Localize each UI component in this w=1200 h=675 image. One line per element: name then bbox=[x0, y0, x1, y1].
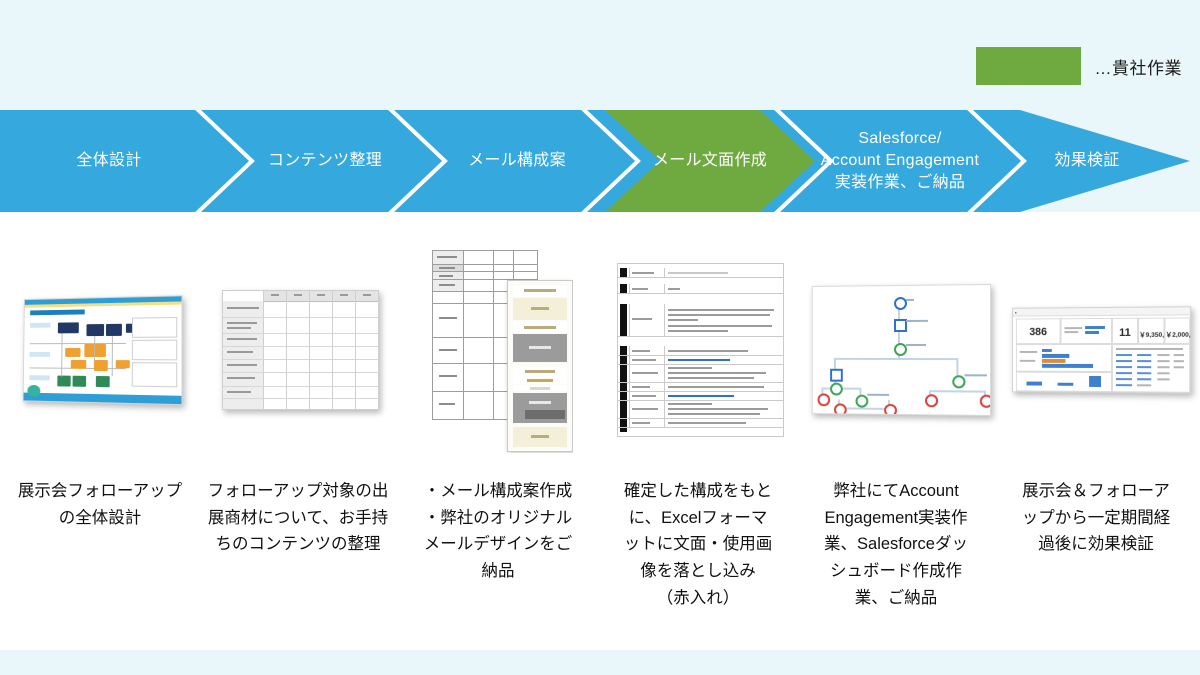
chevron-step-label-4[interactable]: メール文面作成 bbox=[625, 150, 795, 172]
excel-body-text-7 bbox=[668, 372, 766, 374]
journey-node-caption-4 bbox=[964, 374, 987, 376]
dashboard-table-cell-17 bbox=[1137, 378, 1151, 380]
dashboard-tile-bar-chart bbox=[1016, 344, 1112, 372]
excel-label-text-8 bbox=[632, 395, 656, 397]
thumbnail-email-structure-mockup[interactable] bbox=[428, 248, 573, 453]
table-col-label-2 bbox=[294, 294, 302, 296]
dashboard-chart-label-1 bbox=[1020, 351, 1037, 352]
journey-split-bar-2 bbox=[929, 390, 986, 392]
table-row-header-3 bbox=[223, 333, 263, 347]
table-row-header-8 bbox=[223, 398, 263, 410]
chevron-step-label-6[interactable]: 効果検証 bbox=[1012, 150, 1162, 172]
email-block-image-2-text bbox=[531, 435, 549, 438]
journey-node-end-3 bbox=[884, 404, 897, 416]
excel-value-text-1 bbox=[668, 272, 728, 274]
excel-label-text-6 bbox=[632, 372, 658, 374]
dashboard-table-cell-12 bbox=[1174, 366, 1184, 368]
dashboard-tile-2-label-2 bbox=[1064, 331, 1078, 333]
table-row-header-6 bbox=[223, 372, 263, 387]
excel-body-text-10 bbox=[668, 408, 768, 410]
caption-2: フォローアップ対象の出 展商材について、お手持 ちのコンテンツの整理 bbox=[205, 478, 391, 558]
table-row-divider-7 bbox=[223, 398, 378, 399]
chevron-step-label-1[interactable]: 全体設計 bbox=[24, 150, 194, 172]
slide-node-blue-2 bbox=[86, 324, 104, 336]
dashboard-tile-columns bbox=[1016, 372, 1112, 392]
table-row-divider-2 bbox=[223, 333, 378, 334]
caption-1: 展示会フォローアップ の全体設計 bbox=[8, 478, 192, 531]
journey-node-rule-2 bbox=[830, 383, 843, 396]
dashboard-chart-bar-1 bbox=[1042, 349, 1052, 352]
journey-node-end-4 bbox=[925, 394, 938, 407]
dashboard-column-2 bbox=[1058, 383, 1074, 386]
dashboard-chart-bar-3 bbox=[1042, 359, 1065, 363]
email-block-image-1-text bbox=[531, 307, 549, 310]
slide-side-panel-1 bbox=[132, 317, 177, 338]
table-row-label-text-8 bbox=[227, 391, 251, 393]
email-block-text-2 bbox=[513, 393, 567, 423]
dashboard-kpi-value-4: ￥2,000,000 bbox=[1165, 329, 1189, 339]
dashboard-column-1 bbox=[1027, 382, 1042, 386]
email-table-text-4 bbox=[439, 284, 455, 286]
email-block-button bbox=[525, 410, 565, 419]
journey-node-action-2 bbox=[830, 369, 843, 382]
excel-label-text-1 bbox=[632, 272, 654, 274]
email-block-subtitle bbox=[513, 377, 567, 384]
email-block-caption-text bbox=[530, 387, 550, 390]
dashboard-tile-table bbox=[1112, 344, 1190, 393]
table-col-label-5 bbox=[363, 294, 371, 296]
excel-body-text-6 bbox=[668, 367, 712, 369]
thumbnail-salesforce-dashboard[interactable]: ■ 386 11 ￥9,350,000 ￥2,000,000 bbox=[1012, 306, 1191, 394]
dashboard-table-cell-14 bbox=[1137, 372, 1151, 374]
dashboard-app-name: ■ bbox=[1015, 310, 1017, 314]
thumbnail-communication-flow-slide[interactable] bbox=[23, 295, 183, 405]
table-col-label-3 bbox=[317, 294, 325, 296]
dashboard-table-cell-19 bbox=[1116, 384, 1132, 386]
table-row-label-text-3 bbox=[227, 327, 251, 329]
legend-label: …貴社作業 bbox=[1095, 54, 1183, 79]
slide-connector-2 bbox=[94, 336, 95, 360]
table-row-header-5 bbox=[223, 359, 263, 373]
table-row-header-2 bbox=[223, 317, 263, 334]
email-block-text-1 bbox=[513, 334, 567, 362]
dashboard-tile-5: ￥2,000,000 bbox=[1164, 317, 1190, 344]
excel-label-text-2 bbox=[632, 288, 648, 290]
dashboard-table-cell-18 bbox=[1157, 378, 1169, 380]
table-row-divider-4 bbox=[223, 359, 378, 360]
email-block-text-1-text bbox=[529, 346, 551, 349]
dashboard-chart-label-2 bbox=[1020, 360, 1035, 362]
slide-lane-label-2 bbox=[30, 352, 50, 357]
slide-node-blue-1 bbox=[58, 322, 79, 333]
excel-value-text-7 bbox=[668, 386, 764, 388]
table-row-divider-5 bbox=[223, 372, 378, 373]
excel-body-text-5 bbox=[668, 330, 728, 332]
table-row-label-text-4 bbox=[227, 338, 257, 340]
dashboard-tile-1: 386 bbox=[1016, 318, 1061, 344]
table-row-label-text-2 bbox=[227, 322, 257, 324]
slide-lane-label-1 bbox=[30, 323, 50, 328]
excel-row-marker-3 bbox=[620, 304, 627, 336]
excel-hyperlink-2 bbox=[668, 395, 734, 397]
email-block-image-2 bbox=[513, 427, 567, 447]
dashboard-titlebar bbox=[1013, 307, 1190, 316]
dashboard-chart-bar-2 bbox=[1042, 354, 1069, 358]
dashboard-table-cell-15 bbox=[1157, 372, 1169, 374]
slide-lane-label-3 bbox=[29, 375, 50, 380]
slide-side-panel-2 bbox=[132, 340, 177, 361]
journey-node-caption-5 bbox=[867, 394, 889, 396]
excel-hyperlink-1 bbox=[668, 359, 730, 361]
slide-node-green-1 bbox=[57, 376, 70, 387]
caption-5: 弊社にてAccount Engagement実装作 業、Salesforceダッ… bbox=[802, 478, 990, 612]
email-block-subtitle-text bbox=[527, 379, 553, 382]
excel-label-text-5 bbox=[632, 359, 656, 361]
legend-color-swatch bbox=[976, 47, 1081, 85]
email-table-text-1 bbox=[437, 256, 457, 258]
table-row-header-1 bbox=[223, 301, 263, 318]
excel-label-text-7 bbox=[632, 386, 650, 388]
slide-connector-4 bbox=[61, 343, 123, 344]
email-block-title-2-text bbox=[524, 326, 556, 329]
excel-body-text-2 bbox=[668, 314, 770, 316]
journey-split-bar-1 bbox=[834, 358, 957, 360]
slide-node-orange-2 bbox=[84, 344, 106, 357]
journey-node-end-5 bbox=[980, 395, 991, 408]
slide-title-placeholder bbox=[30, 309, 85, 315]
slide-logo-icon bbox=[27, 385, 40, 397]
email-block-title-1 bbox=[513, 285, 567, 297]
chevron-step-label-3[interactable]: メール構成案 bbox=[432, 150, 602, 172]
slide-node-orange-4 bbox=[94, 360, 108, 371]
table-col-divider-5 bbox=[355, 291, 356, 409]
excel-label-text-9 bbox=[632, 408, 658, 410]
process-chevron-banner: 全体設計 コンテンツ整理 メール構成案 メール文面作成 Salesforce/ … bbox=[0, 110, 1200, 212]
excel-body-text-4 bbox=[668, 325, 772, 327]
dashboard-tile-2 bbox=[1061, 318, 1112, 344]
dashboard-table-cell-2 bbox=[1137, 354, 1151, 356]
dashboard-table-cell-6 bbox=[1137, 360, 1151, 362]
table-col-divider-3 bbox=[309, 291, 310, 409]
excel-row-marker-2 bbox=[620, 284, 627, 293]
slide-node-green-2 bbox=[73, 376, 87, 387]
dashboard-column-3 bbox=[1089, 376, 1101, 387]
table-row-divider-3 bbox=[223, 346, 378, 347]
journey-node-end-1 bbox=[818, 393, 831, 406]
dashboard-tile-4: ￥9,350,000 bbox=[1138, 318, 1164, 344]
journey-node-caption-3 bbox=[906, 344, 926, 346]
email-table-text-6 bbox=[439, 349, 457, 351]
email-block-caption bbox=[513, 385, 567, 391]
table-header-row bbox=[263, 291, 378, 302]
email-wireframe-panel bbox=[507, 280, 573, 452]
table-row-divider-6 bbox=[223, 386, 378, 387]
dashboard-table-cell-9 bbox=[1116, 366, 1132, 368]
thumbnail-content-inventory-table[interactable] bbox=[222, 290, 379, 410]
dashboard-tile-2-bar-2 bbox=[1085, 331, 1099, 334]
excel-body-text-3 bbox=[668, 319, 698, 321]
table-row-divider-1 bbox=[223, 317, 378, 318]
email-table-text-5 bbox=[439, 317, 457, 319]
excel-value-text-2 bbox=[668, 288, 680, 290]
dashboard-table-cell-5 bbox=[1116, 360, 1132, 362]
dashboard-kpi-value-2: 11 bbox=[1113, 327, 1137, 339]
dashboard-chart-bar-4 bbox=[1042, 364, 1093, 368]
table-col-label-4 bbox=[340, 294, 348, 296]
excel-row-marker-1 bbox=[620, 268, 627, 277]
excel-body-text-1 bbox=[668, 309, 774, 311]
email-table-text-3 bbox=[439, 275, 453, 277]
thumbnail-account-engagement-journey[interactable] bbox=[812, 284, 991, 416]
journey-node-rule-3 bbox=[952, 375, 965, 388]
thumbnail-cell-3 bbox=[400, 230, 600, 470]
table-row-label-text-7 bbox=[227, 377, 255, 379]
slide-node-orange-1 bbox=[65, 348, 80, 357]
thumbnail-cell-2 bbox=[200, 230, 400, 470]
slide-node-green-3 bbox=[96, 376, 110, 387]
table-row-label-text-1 bbox=[227, 307, 259, 309]
dashboard-tile-3: 11 bbox=[1112, 318, 1138, 344]
table-col-divider-4 bbox=[332, 291, 333, 409]
excel-value-text-10 bbox=[668, 422, 746, 424]
email-block-title-3-text bbox=[525, 370, 555, 373]
table-row-header-4 bbox=[223, 346, 263, 360]
thumbnail-cell-4 bbox=[600, 230, 800, 470]
excel-label-text-4 bbox=[632, 350, 650, 352]
excel-body-text-11 bbox=[668, 413, 760, 415]
dashboard-table-cell-4 bbox=[1174, 354, 1184, 356]
email-table-text-7 bbox=[439, 375, 457, 377]
dashboard-table-cell-10 bbox=[1137, 366, 1151, 368]
email-table-vline-1 bbox=[463, 251, 464, 419]
dashboard-table-cell-13 bbox=[1116, 372, 1132, 374]
email-block-title-2 bbox=[513, 322, 567, 333]
email-block-title-3 bbox=[513, 367, 567, 377]
table-col-divider-1 bbox=[263, 291, 264, 409]
slide-canvas: …貴社作業 全体設計 コンテンツ整理 メール構成案 メール文面作成 Salesf… bbox=[0, 0, 1200, 675]
journey-node-caption-1 bbox=[906, 299, 914, 301]
thumbnail-excel-copy-sheet[interactable] bbox=[617, 263, 784, 437]
dashboard-table-cell-20 bbox=[1137, 384, 1151, 386]
dashboard-table-cell-3 bbox=[1157, 354, 1169, 356]
excel-label-cell-3 bbox=[629, 304, 665, 336]
thumbnail-row: ■ 386 11 ￥9,350,000 ￥2,000,000 bbox=[0, 230, 1200, 470]
journey-node-rule-4 bbox=[856, 395, 869, 408]
bottom-margin-strip bbox=[0, 650, 1200, 675]
email-block-title-1-text bbox=[524, 289, 556, 292]
dashboard-kpi-value-3: ￥9,350,000 bbox=[1139, 329, 1163, 339]
excel-body-text-9 bbox=[668, 403, 712, 405]
slide-side-panel-3 bbox=[132, 362, 178, 387]
email-block-image-1 bbox=[513, 298, 567, 320]
slide-footer-bar bbox=[24, 393, 182, 405]
caption-4: 確定した構成をもと に、Excelフォーマ ットに文面・使用画 像を落とし込み … bbox=[608, 478, 788, 612]
email-table-vline-2 bbox=[493, 251, 494, 419]
table-col-divider-2 bbox=[286, 291, 287, 409]
slide-connector-1 bbox=[61, 333, 62, 376]
chevron-step-label-5[interactable]: Salesforce/ Account Engagement 実装作業、ご納品 bbox=[805, 128, 995, 194]
table-row-label-text-5 bbox=[227, 351, 253, 353]
dashboard-kpi-value-1: 386 bbox=[1017, 326, 1060, 338]
dashboard-table-cell-16 bbox=[1116, 378, 1132, 380]
legend: …貴社作業 bbox=[976, 47, 1183, 85]
thumbnail-cell-5 bbox=[800, 230, 1000, 470]
email-table-text-2 bbox=[439, 267, 455, 269]
thumbnail-cell-1 bbox=[0, 230, 200, 470]
excel-label-text-10 bbox=[632, 422, 650, 424]
dashboard-table-cell-1 bbox=[1116, 354, 1132, 356]
slide-node-blue-3 bbox=[106, 324, 122, 336]
dashboard-tile-2-label-1 bbox=[1064, 327, 1082, 329]
caption-3: ・メール構成案作成 ・弊社のオリジナル メールデザインをご 納品 bbox=[406, 478, 590, 585]
journey-node-caption-2 bbox=[906, 320, 928, 322]
dashboard-table-cell-7 bbox=[1157, 360, 1169, 362]
email-table-text-8 bbox=[439, 403, 455, 405]
dashboard-tile-2-bar-1 bbox=[1085, 326, 1105, 329]
dashboard-table-cell-8 bbox=[1174, 360, 1184, 362]
thumbnail-cell-6: ■ 386 11 ￥9,350,000 ￥2,000,000 bbox=[1000, 230, 1200, 470]
slide-node-orange-5 bbox=[116, 360, 130, 368]
table-row-label-text-6 bbox=[227, 364, 257, 366]
excel-label-text-3 bbox=[632, 318, 652, 320]
journey-node-end-2 bbox=[834, 403, 847, 416]
caption-6: 展示会＆フォローア ップから一定期間経 過後に効果検証 bbox=[1004, 478, 1188, 558]
excel-value-text-4 bbox=[668, 350, 748, 352]
chevron-step-label-2[interactable]: コンテンツ整理 bbox=[240, 150, 410, 172]
dashboard-table-header bbox=[1116, 348, 1183, 350]
table-col-label-1 bbox=[271, 294, 279, 296]
slide-node-orange-3 bbox=[71, 360, 86, 369]
email-block-text-2-text bbox=[529, 401, 551, 404]
excel-body-text-8 bbox=[668, 377, 754, 379]
dashboard-table-cell-11 bbox=[1157, 366, 1169, 368]
